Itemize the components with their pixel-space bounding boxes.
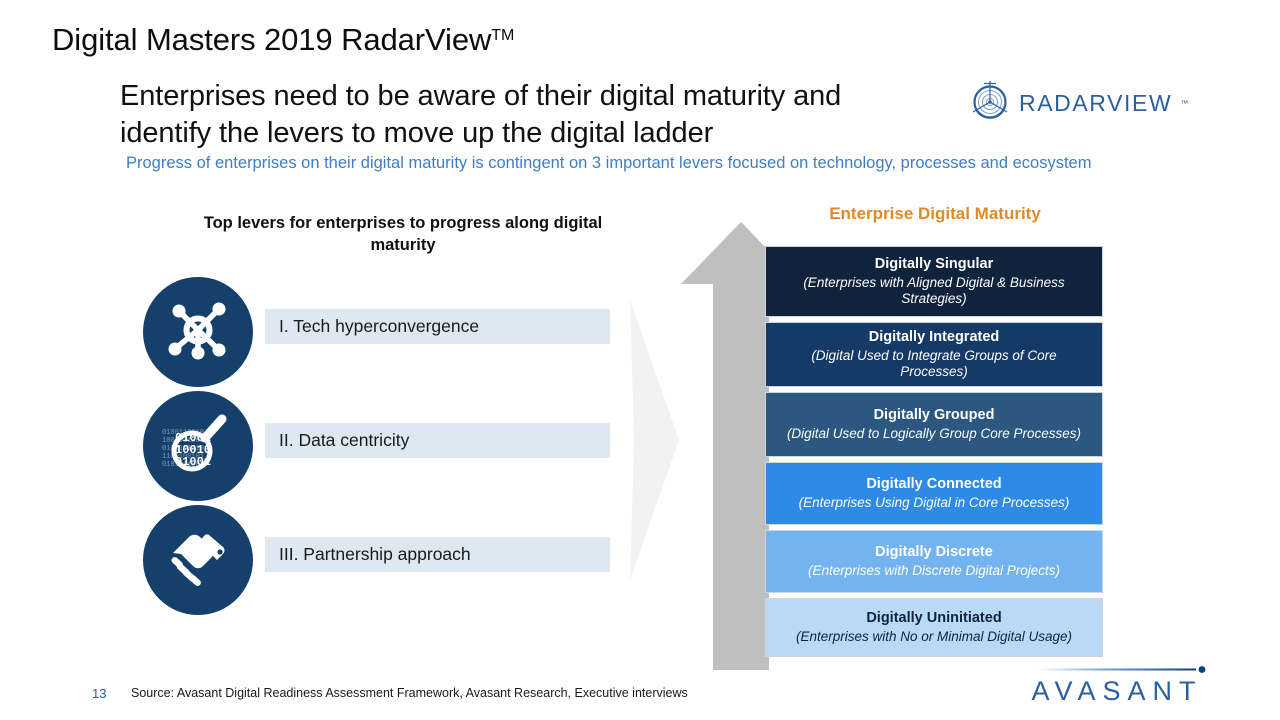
maturity-level-bar[interactable]: Digitally Uninitiated (Enterprises with … (765, 598, 1103, 657)
maturity-level-bar[interactable]: Digitally Integrated (Digital Used to In… (765, 322, 1103, 387)
maturity-level-subtitle: (Enterprises with Aligned Digital & Busi… (776, 275, 1092, 308)
lever-icon-circle-3 (143, 505, 253, 615)
lever-row: III. Partnership approach (143, 505, 613, 619)
page-title: Digital Masters 2019 RadarViewTM (52, 22, 514, 58)
radarview-logo: RADARVIEW ™ (968, 78, 1208, 128)
lever-row: I. Tech hyperconvergence (143, 277, 613, 391)
page-title-text: Digital Masters 2019 RadarView (52, 22, 491, 57)
maturity-level-bar[interactable]: Digitally Connected (Enterprises Using D… (765, 462, 1103, 525)
magnifier-binary-icon: 0100110010 1001011001 0101101010 1100100… (158, 406, 238, 487)
avasant-logo: AVASANT (1018, 664, 1216, 708)
page-number: 13 (92, 686, 106, 701)
source-note: Source: Avasant Digital Readiness Assess… (131, 686, 688, 700)
maturity-level-subtitle: (Digital Used to Logically Group Core Pr… (776, 426, 1092, 442)
lever-label-pill-1[interactable]: I. Tech hyperconvergence (265, 309, 610, 344)
avasant-wordmark: AVASANT (1018, 676, 1216, 707)
trademark-superscript: TM (491, 27, 514, 44)
maturity-level-subtitle: (Enterprises with No or Minimal Digital … (776, 629, 1092, 645)
radarview-wordmark: RADARVIEW (1019, 90, 1172, 117)
handshake-icon (159, 523, 237, 598)
radar-target-icon (968, 79, 1012, 128)
maturity-level-title: Digitally Discrete (776, 544, 1092, 562)
maturity-heading: Enterprise Digital Maturity (765, 204, 1105, 224)
subheadline: Progress of enterprises on their digital… (126, 152, 1106, 174)
lever-row: 0100110010 1001011001 0101101010 1100100… (143, 391, 613, 505)
headline: Enterprises need to be aware of their di… (120, 78, 940, 152)
maturity-ladder: Digitally Singular (Enterprises with Ali… (765, 246, 1103, 662)
lever-icon-circle-1 (143, 277, 253, 387)
maturity-level-bar[interactable]: Digitally Singular (Enterprises with Ali… (765, 246, 1103, 317)
right-chevron-shape (604, 300, 679, 580)
maturity-level-bar[interactable]: Digitally Discrete (Enterprises with Dis… (765, 530, 1103, 593)
maturity-level-bar[interactable]: Digitally Grouped (Digital Used to Logic… (765, 392, 1103, 457)
radarview-trademark: ™ (1180, 99, 1188, 108)
maturity-level-title: Digitally Grouped (776, 407, 1092, 425)
lever-label-pill-2[interactable]: II. Data centricity (265, 423, 610, 458)
levers-heading: Top levers for enterprises to progress a… (178, 212, 628, 257)
maturity-level-subtitle: (Enterprises Using Digital in Core Proce… (776, 495, 1092, 511)
lever-label: I. Tech hyperconvergence (265, 316, 479, 337)
maturity-level-title: Digitally Connected (776, 476, 1092, 494)
lever-label: III. Partnership approach (265, 544, 471, 565)
slide-canvas: Digital Masters 2019 RadarViewTM Enterpr… (0, 0, 1280, 720)
lever-icon-circle-2: 0100110010 1001011001 0101101010 1100100… (143, 391, 253, 501)
network-hub-icon (160, 292, 236, 373)
maturity-level-subtitle: (Digital Used to Integrate Groups of Cor… (776, 348, 1092, 381)
maturity-level-title: Digitally Uninitiated (776, 610, 1092, 628)
lever-label-pill-3[interactable]: III. Partnership approach (265, 537, 610, 572)
maturity-level-subtitle: (Enterprises with Discrete Digital Proje… (776, 563, 1092, 579)
maturity-level-title: Digitally Singular (776, 256, 1092, 274)
lever-label: II. Data centricity (265, 430, 409, 451)
maturity-level-title: Digitally Integrated (776, 329, 1092, 347)
